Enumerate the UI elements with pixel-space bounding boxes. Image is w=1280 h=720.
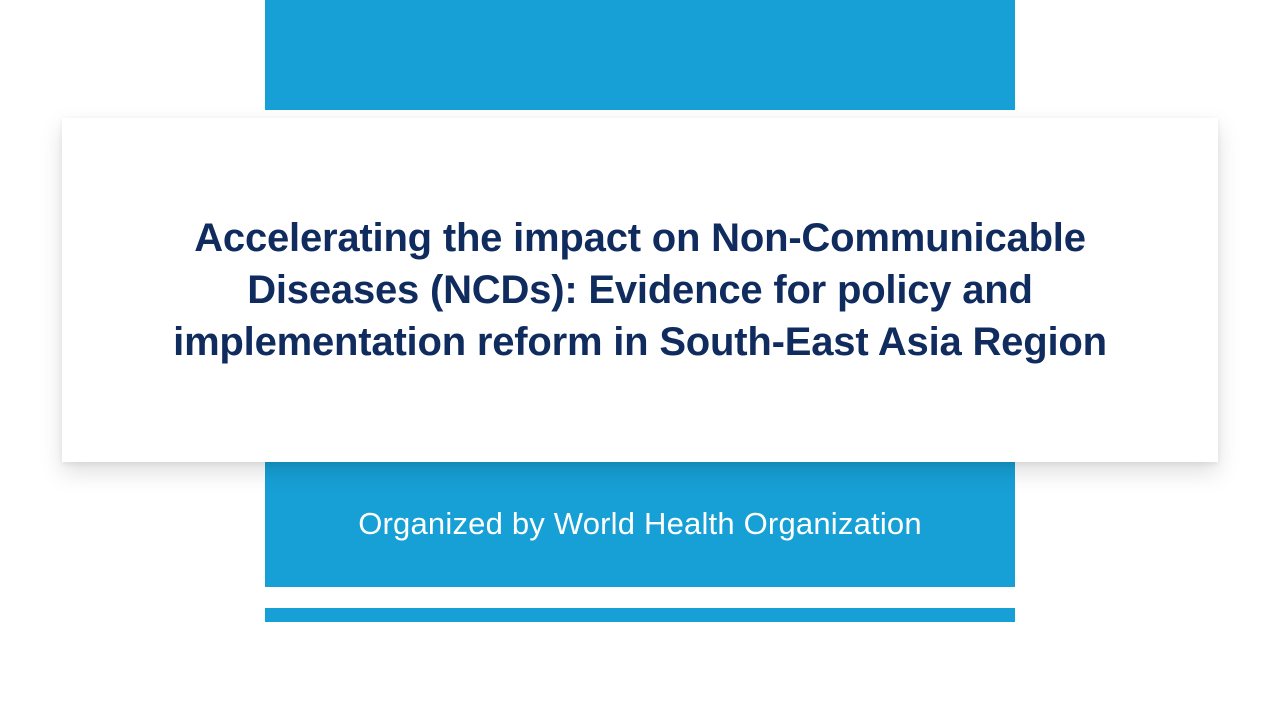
title-slide: Organized by World Health Organization A…: [0, 0, 1280, 720]
page-title: Accelerating the impact on Non-Communica…: [160, 212, 1120, 368]
organizer-label: Organized by World Health Organization: [265, 505, 1015, 543]
organizer-band: Organized by World Health Organization: [265, 462, 1015, 587]
bottom-accent-bar: [265, 608, 1015, 622]
top-accent-band: [265, 0, 1015, 110]
title-card: Accelerating the impact on Non-Communica…: [62, 118, 1218, 462]
